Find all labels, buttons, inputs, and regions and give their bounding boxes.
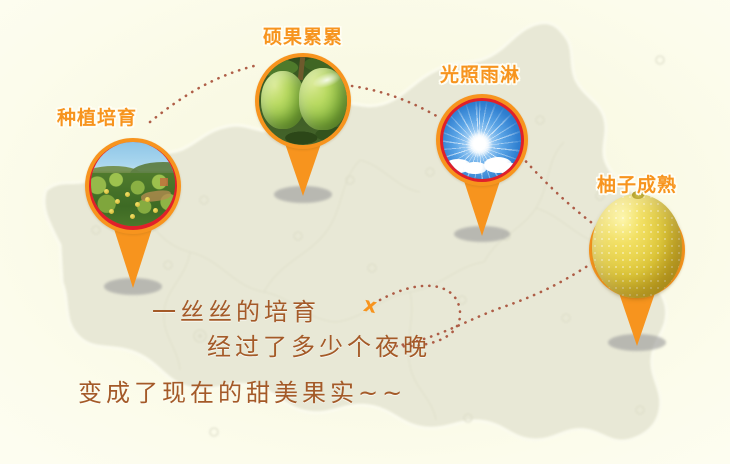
connector-abundant-to-sun: [352, 86, 440, 118]
marker-label-pomelo-ripe: 柚子成熟: [597, 170, 677, 197]
marker-label-planting: 种植培育: [57, 103, 137, 130]
connector-planting-to-abundant: [150, 66, 254, 122]
copy-line-1: 一丝丝的培育: [152, 292, 320, 327]
infographic-canvas: 种植培育 硕果累累: [0, 0, 730, 464]
sunshine-sky-photo: [443, 101, 521, 179]
copy-line-3: 变成了现在的甜美果实~~: [78, 373, 406, 408]
marker-label-sun-and-rain: 光照雨淋: [440, 60, 520, 87]
cross-mark-icon: x: [362, 292, 380, 318]
connector-sun-to-pomelo: [521, 156, 596, 226]
yellow-pomelo-photo: [592, 194, 682, 298]
green-pomelo-photo: [259, 57, 347, 145]
marker-label-abundant-fruit: 硕果累累: [263, 22, 343, 49]
orchard-photo: [91, 142, 175, 226]
copy-line-2: 经过了多少个夜晚: [207, 327, 431, 362]
